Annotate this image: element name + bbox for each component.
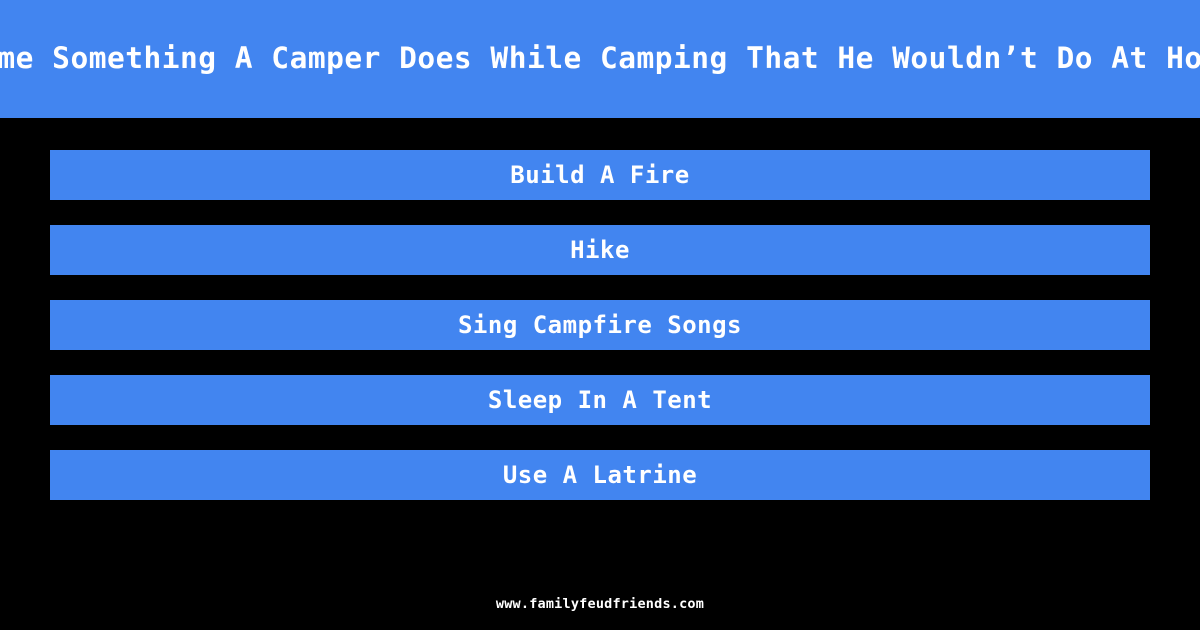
question-banner: Name Something A Camper Does While Campi… (0, 0, 1200, 118)
answer-row-5[interactable]: Use A Latrine (50, 450, 1150, 500)
answer-row-3[interactable]: Sing Campfire Songs (50, 300, 1150, 350)
answer-label: Build A Fire (510, 161, 689, 189)
answer-label: Sleep In A Tent (488, 386, 712, 414)
answer-row-1[interactable]: Build A Fire (50, 150, 1150, 200)
footer: www.familyfeudfriends.com (0, 596, 1200, 612)
answer-card: Name Something A Camper Does While Campi… (0, 0, 1200, 630)
answer-label: Hike (570, 236, 630, 264)
answer-label: Sing Campfire Songs (458, 311, 742, 339)
site-url[interactable]: www.familyfeudfriends.com (496, 596, 704, 612)
question-title: Name Something A Camper Does While Campi… (0, 41, 1200, 76)
answer-row-2[interactable]: Hike (50, 225, 1150, 275)
answer-row-4[interactable]: Sleep In A Tent (50, 375, 1150, 425)
answer-label: Use A Latrine (503, 461, 697, 489)
answers-list: Build A Fire Hike Sing Campfire Songs Sl… (50, 150, 1150, 500)
